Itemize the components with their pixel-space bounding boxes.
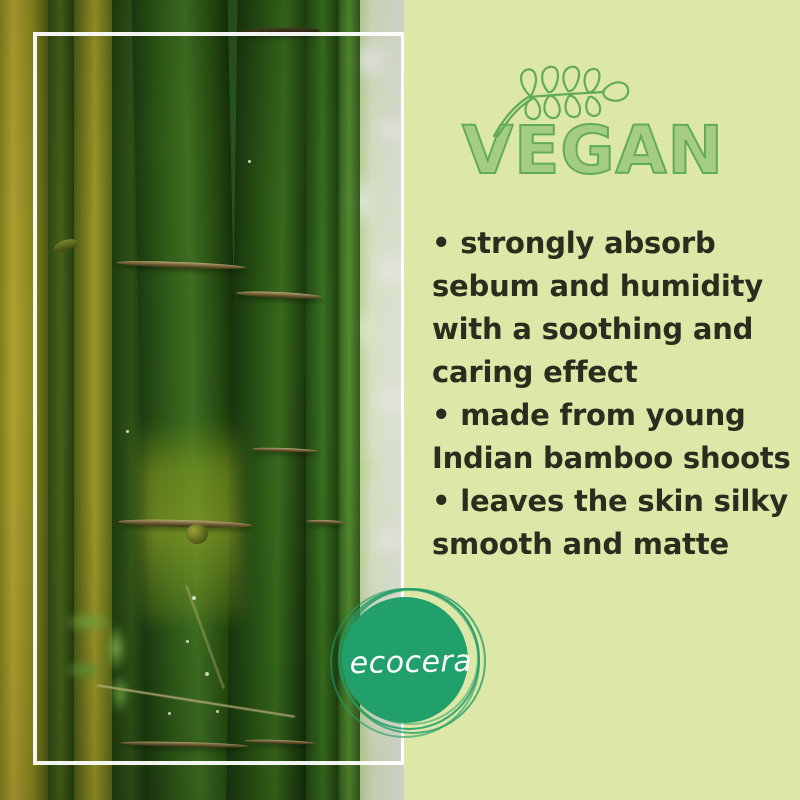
benefit-line: • leaves the skin silky — [432, 480, 798, 523]
benefit-line: • strongly absorb — [432, 222, 798, 265]
culm-speckle — [168, 712, 171, 715]
ecocera-logo: ecocera — [325, 575, 497, 747]
vegan-title: VEGAN — [428, 118, 758, 184]
benefit-line: caring effect — [432, 351, 798, 394]
culm-speckle — [192, 596, 196, 600]
foreground-leaves — [58, 596, 154, 716]
vegan-badge: VEGAN — [428, 62, 758, 202]
culm-speckle — [216, 710, 219, 713]
benefit-line: sebum and humidity — [432, 265, 798, 308]
benefit-line: smooth and matte — [432, 523, 798, 566]
benefit-line: with a soothing and — [432, 308, 798, 351]
bamboo-culm — [226, 0, 318, 800]
culm-speckle — [186, 640, 189, 643]
culm-speckle — [248, 160, 251, 163]
benefits-list: • strongly absorb sebum and humidity wit… — [432, 222, 798, 566]
benefit-line: Indian bamboo shoots — [432, 437, 798, 480]
logo-wordmark: ecocera — [325, 644, 498, 682]
bamboo-culm — [0, 0, 48, 800]
culm-speckle — [205, 672, 209, 676]
bamboo-branch-nub — [186, 524, 208, 544]
culm-speckle — [126, 430, 129, 433]
poster: VEGAN • strongly absorb sebum and humidi… — [0, 0, 800, 800]
benefit-line: • made from young — [432, 394, 798, 437]
